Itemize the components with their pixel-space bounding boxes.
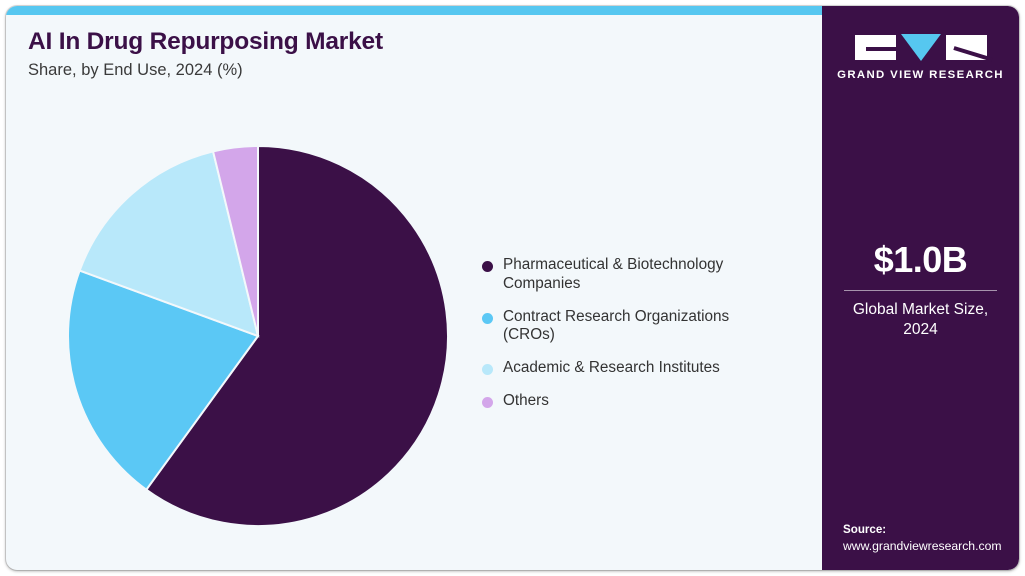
- page-subtitle: Share, by End Use, 2024 (%): [28, 61, 788, 81]
- legend-item-label: Others: [503, 392, 549, 411]
- logo-marks: [822, 34, 1019, 60]
- legend-item-pharmaceutical-biotechnology-companies[interactable]: Pharmaceutical & Biotechnology Companies: [482, 256, 802, 294]
- source-url[interactable]: www.grandviewresearch.com: [843, 538, 1007, 554]
- source-title: Source:: [843, 522, 1007, 538]
- pie-slice-group: [68, 146, 448, 526]
- top-accent-bar: [6, 6, 822, 15]
- source-block: Source: www.grandviewresearch.com: [843, 522, 1007, 554]
- logo-letter-g-icon: [855, 35, 896, 60]
- chart-header: AI In Drug Repurposing Market Share, by …: [28, 28, 788, 81]
- pie-chart: [66, 144, 450, 528]
- screenshot-root: AI In Drug Repurposing Market Share, by …: [0, 0, 1025, 576]
- legend-item-academic-research-institutes[interactable]: Academic & Research Institutes: [482, 359, 802, 378]
- market-size-stat: $1.0B Global Market Size, 2024: [822, 242, 1019, 340]
- chart-legend: Pharmaceutical & Biotechnology Companies…: [482, 256, 802, 411]
- legend-color-swatch-icon: [482, 313, 493, 324]
- sidebar-panel: GRAND VIEW RESEARCH $1.0B Global Market …: [822, 6, 1019, 570]
- report-card: AI In Drug Repurposing Market Share, by …: [6, 6, 1019, 570]
- stat-divider: [844, 290, 997, 291]
- market-size-value: $1.0B: [836, 242, 1005, 278]
- logo-letter-r-icon: [946, 35, 987, 60]
- legend-item-label: Contract Research Organizations (CROs): [503, 308, 775, 346]
- legend-color-swatch-icon: [482, 261, 493, 272]
- brand-name: GRAND VIEW RESEARCH: [822, 69, 1019, 81]
- legend-color-swatch-icon: [482, 397, 493, 408]
- legend-item-others[interactable]: Others: [482, 392, 802, 411]
- brand-logo: GRAND VIEW RESEARCH: [822, 34, 1019, 81]
- market-size-label: Global Market Size, 2024: [836, 300, 1005, 340]
- legend-color-swatch-icon: [482, 364, 493, 375]
- logo-triangle-v-icon: [901, 34, 941, 61]
- page-title: AI In Drug Repurposing Market: [28, 28, 788, 56]
- legend-item-label: Pharmaceutical & Biotechnology Companies: [503, 256, 775, 294]
- legend-item-label: Academic & Research Institutes: [503, 359, 720, 378]
- pie-chart-svg: [66, 144, 450, 528]
- legend-item-contract-research-organizations[interactable]: Contract Research Organizations (CROs): [482, 308, 802, 346]
